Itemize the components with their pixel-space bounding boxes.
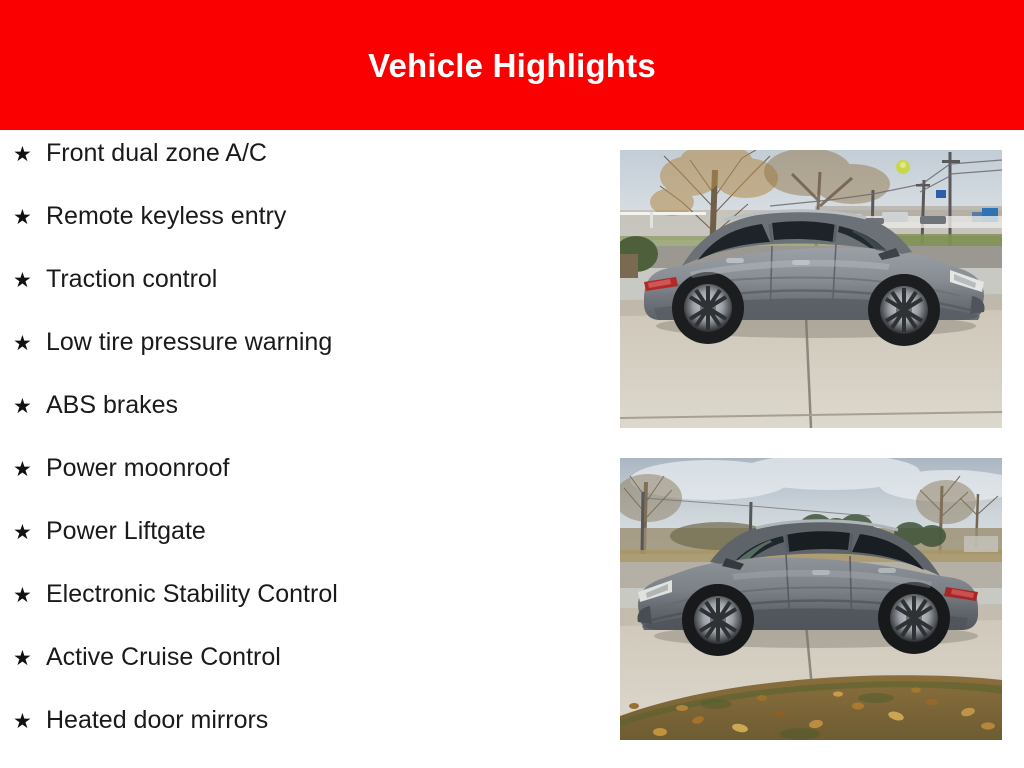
- vehicle-photo-driver-side: [620, 458, 1002, 740]
- list-item: ★ Power Liftgate: [0, 516, 600, 579]
- star-icon: ★: [13, 266, 46, 296]
- list-item: ★ Heated door mirrors: [0, 705, 600, 768]
- feature-label: Front dual zone A/C: [46, 138, 267, 168]
- list-item: ★ Electronic Stability Control: [0, 579, 600, 642]
- star-icon: ★: [13, 455, 46, 485]
- feature-label: Low tire pressure warning: [46, 327, 332, 357]
- vehicle-highlights-list: ★ Front dual zone A/C ★ Remote keyless e…: [0, 138, 600, 768]
- feature-label: ABS brakes: [46, 390, 178, 420]
- star-icon: ★: [13, 203, 46, 233]
- star-icon: ★: [13, 581, 46, 611]
- content-area: ★ Front dual zone A/C ★ Remote keyless e…: [0, 130, 1024, 768]
- feature-label: Remote keyless entry: [46, 201, 286, 231]
- star-icon: ★: [13, 329, 46, 359]
- list-item: ★ Front dual zone A/C: [0, 138, 600, 201]
- star-icon: ★: [13, 518, 46, 548]
- header-banner: Vehicle Highlights: [0, 0, 1024, 130]
- list-item: ★ Traction control: [0, 264, 600, 327]
- star-icon: ★: [13, 140, 46, 170]
- page-title: Vehicle Highlights: [0, 44, 1024, 88]
- vehicle-photo-passenger-side: [620, 150, 1002, 428]
- vehicle-photo-passenger-side-image: [620, 150, 1002, 428]
- feature-label: Traction control: [46, 264, 217, 294]
- list-item: ★ Power moonroof: [0, 453, 600, 516]
- star-icon: ★: [13, 392, 46, 422]
- feature-label: Heated door mirrors: [46, 705, 268, 735]
- list-item: ★ Remote keyless entry: [0, 201, 600, 264]
- list-item: ★ ABS brakes: [0, 390, 600, 453]
- star-icon: ★: [13, 644, 46, 674]
- feature-label: Electronic Stability Control: [46, 579, 338, 609]
- vehicle-photo-driver-side-image: [620, 458, 1002, 740]
- list-item: ★ Active Cruise Control: [0, 642, 600, 705]
- feature-label: Active Cruise Control: [46, 642, 281, 672]
- list-item: ★ Low tire pressure warning: [0, 327, 600, 390]
- star-icon: ★: [13, 707, 46, 737]
- feature-label: Power Liftgate: [46, 516, 206, 546]
- feature-label: Power moonroof: [46, 453, 229, 483]
